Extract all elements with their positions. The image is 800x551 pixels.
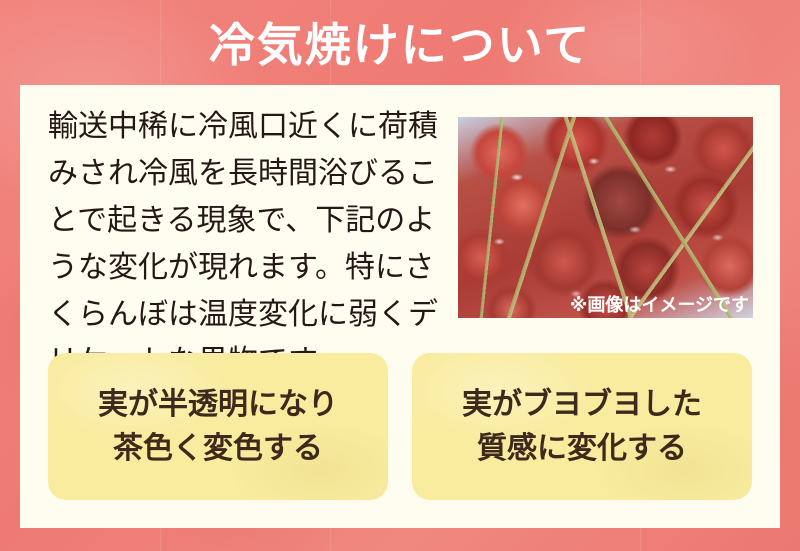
symptom-card-list: 実が半透明になり 茶色く変色する 実がブヨブヨした 質感に変化する xyxy=(48,353,752,500)
symptom-card-label: 実が半透明になり 茶色く変色する xyxy=(98,383,338,471)
intro-paragraph: 輸送中稀に冷風口近くに荷積みされ冷風を長時間浴びることで起きる現象で、下記のよう… xyxy=(48,103,454,385)
symptom-card-label: 実がブヨブヨした 質感に変化する xyxy=(462,383,702,471)
cherries-photo: ※画像はイメージです xyxy=(458,117,753,318)
cherries-photo-image xyxy=(458,117,753,318)
content-panel: 輸送中稀に冷風口近くに荷積みされ冷風を長時間浴びることで起きる現象で、下記のよう… xyxy=(20,85,780,528)
symptom-card-soft-texture: 実がブヨブヨした 質感に変化する xyxy=(412,353,752,500)
photo-caption: ※画像はイメージです xyxy=(570,294,749,318)
symptom-card-translucent-browning: 実が半透明になり 茶色く変色する xyxy=(48,353,388,500)
cold-burn-info-banner: 冷気焼けについて 輸送中稀に冷風口近くに荷積みされ冷風を長時間浴びることで起きる… xyxy=(0,0,800,551)
page-title: 冷気焼けについて xyxy=(0,16,800,74)
